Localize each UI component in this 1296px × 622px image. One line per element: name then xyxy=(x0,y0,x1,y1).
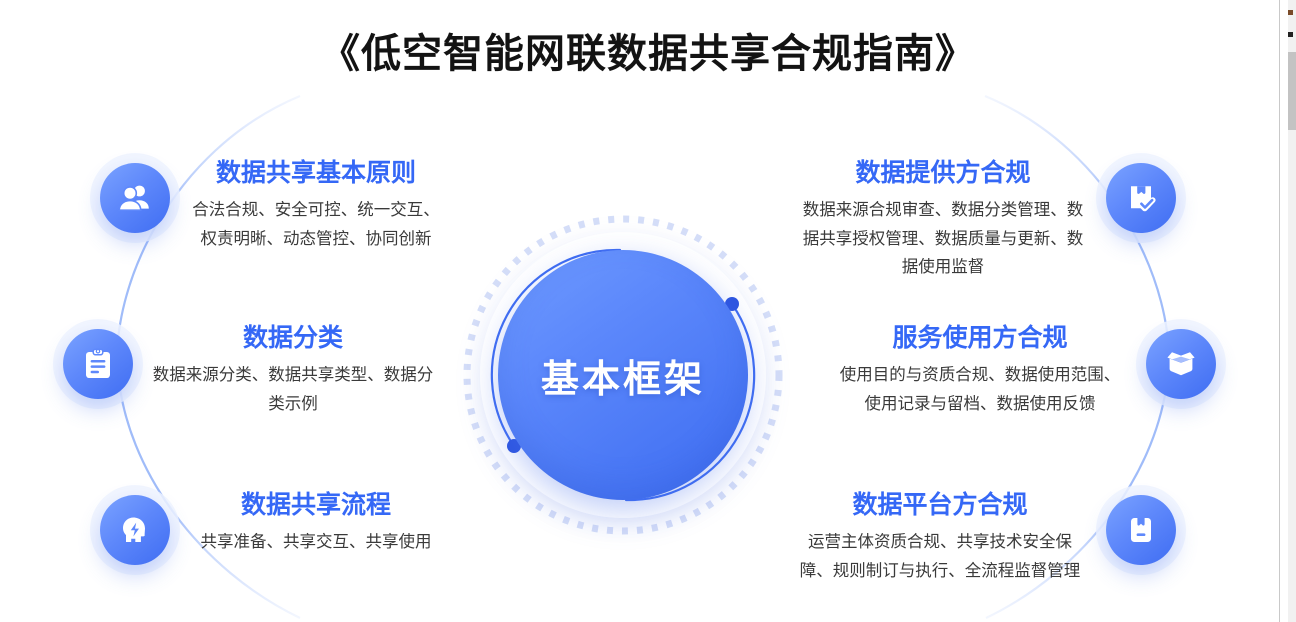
node-right-3-bubble[interactable] xyxy=(1106,495,1176,565)
open-box-icon xyxy=(1163,347,1199,381)
node-left-3-title: 数据共享流程 xyxy=(160,490,472,521)
node-right-1-title: 数据提供方合规 xyxy=(790,158,1096,189)
node-left-3-desc: 共享准备、共享交互、共享使用 xyxy=(160,528,472,556)
node-right-2-text: 服务使用方合规 使用目的与资质合规、数据使用范围、使用记录与留档、数据使用反馈 xyxy=(822,323,1138,418)
node-right-3-text: 数据平台方合规 运营主体资质合规、共享技术安全保障、规则制订与执行、全流程监督管… xyxy=(784,490,1096,585)
node-left-2-text: 数据分类 数据来源分类、数据共享类型、数据分类示例 xyxy=(130,323,456,418)
node-right-1-text: 数据提供方合规 数据来源合规审查、数据分类管理、数据共享授权管理、数据质量与更新… xyxy=(790,158,1096,281)
node-left-1-text: 数据共享基本原则 合法合规、安全可控、统一交互、权责明晰、动态管控、协同创新 xyxy=(160,158,472,253)
node-right-2-bubble[interactable] xyxy=(1146,329,1216,399)
scrollbar-track[interactable] xyxy=(1288,0,1296,622)
node-right-1-desc: 数据来源合规审查、数据分类管理、数据共享授权管理、数据质量与更新、数据使用监督 xyxy=(797,196,1089,281)
node-left-1-title: 数据共享基本原则 xyxy=(160,158,472,189)
edge-artifact-1 xyxy=(1288,10,1293,15)
node-right-3-desc: 运营主体资质合规、共享技术安全保障、规则制订与执行、全流程监督管理 xyxy=(792,528,1088,585)
node-left-2-title: 数据分类 xyxy=(130,323,456,354)
window-edge-strip xyxy=(1279,0,1296,622)
brain-bolt-icon xyxy=(118,513,152,547)
node-right-1-bubble[interactable] xyxy=(1106,163,1176,233)
scrollbar-thumb[interactable] xyxy=(1288,52,1296,130)
users-icon xyxy=(117,180,153,216)
node-right-3-title: 数据平台方合规 xyxy=(784,490,1096,521)
hub-core-circle[interactable]: 基本框架 xyxy=(498,250,748,500)
node-right-2-title: 服务使用方合规 xyxy=(822,323,1138,354)
node-left-3-text: 数据共享流程 共享准备、共享交互、共享使用 xyxy=(160,490,472,557)
node-left-2-desc: 数据来源分类、数据共享类型、数据分类示例 xyxy=(148,361,438,418)
document-check-icon xyxy=(1124,181,1158,215)
node-right-2-desc: 使用目的与资质合规、数据使用范围、使用记录与留档、数据使用反馈 xyxy=(836,361,1124,418)
platform-icon xyxy=(1124,513,1158,547)
node-left-1-desc: 合法合规、安全可控、统一交互、权责明晰、动态管控、协同创新 xyxy=(190,196,442,253)
page-title: 《低空智能网联数据共享合规指南》 xyxy=(0,30,1296,78)
clipboard-icon xyxy=(81,347,115,381)
hub-label: 基本框架 xyxy=(541,348,705,403)
infographic-canvas: 《低空智能网联数据共享合规指南》 xyxy=(0,0,1296,622)
edge-artifact-2 xyxy=(1288,32,1293,37)
center-hub: 基本框架 xyxy=(498,250,748,500)
node-left-2-bubble[interactable] xyxy=(63,329,133,399)
